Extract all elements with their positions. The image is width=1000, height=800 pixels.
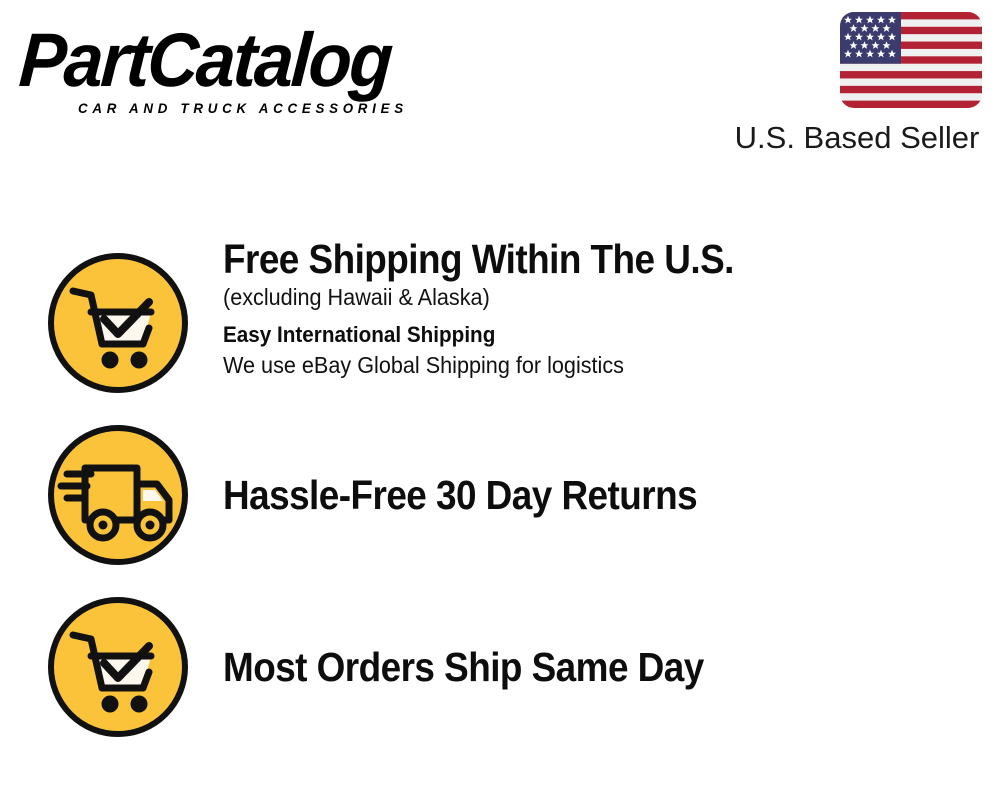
us-flag-graphic xyxy=(840,12,982,108)
seller-banner-page: PartCatalog CAR AND TRUCK ACCESSORIES xyxy=(0,0,1000,800)
feature-row: Hassle-Free 30 Day Returns xyxy=(45,422,975,568)
feature-text-block: Hassle-Free 30 Day Returns xyxy=(191,422,975,568)
spacer xyxy=(223,312,975,320)
feature-title: Free Shipping Within The U.S. xyxy=(223,236,900,282)
shopping-cart-check-graphic xyxy=(45,594,191,740)
shopping-cart-check-icon xyxy=(45,250,191,396)
feature-sub-detail: We use eBay Global Shipping for logistic… xyxy=(223,350,930,380)
feature-row: Most Orders Ship Same Day xyxy=(45,594,975,740)
feature-row: Free Shipping Within The U.S. (excluding… xyxy=(45,250,975,396)
shopping-cart-check-graphic xyxy=(45,250,191,396)
shopping-cart-check-icon xyxy=(45,594,191,740)
feature-title: Most Orders Ship Same Day xyxy=(223,644,704,690)
delivery-truck-graphic xyxy=(45,422,191,568)
partcatalog-logo: PartCatalog CAR AND TRUCK ACCESSORIES xyxy=(22,22,492,117)
us-flag-icon xyxy=(840,12,982,108)
feature-subtitle: (excluding Hawaii & Alaska) xyxy=(223,282,930,312)
feature-title: Hassle-Free 30 Day Returns xyxy=(223,472,697,518)
delivery-truck-icon xyxy=(45,422,191,568)
feature-text-block: Free Shipping Within The U.S. (excluding… xyxy=(191,236,975,380)
feature-text-block: Most Orders Ship Same Day xyxy=(191,594,975,740)
feature-sub-heading: Easy International Shipping xyxy=(223,320,930,350)
brand-wordmark: PartCatalog xyxy=(17,22,459,100)
brand-tagline: CAR AND TRUCK ACCESSORIES xyxy=(78,100,471,116)
us-based-seller-label: U.S. Based Seller xyxy=(726,120,988,156)
